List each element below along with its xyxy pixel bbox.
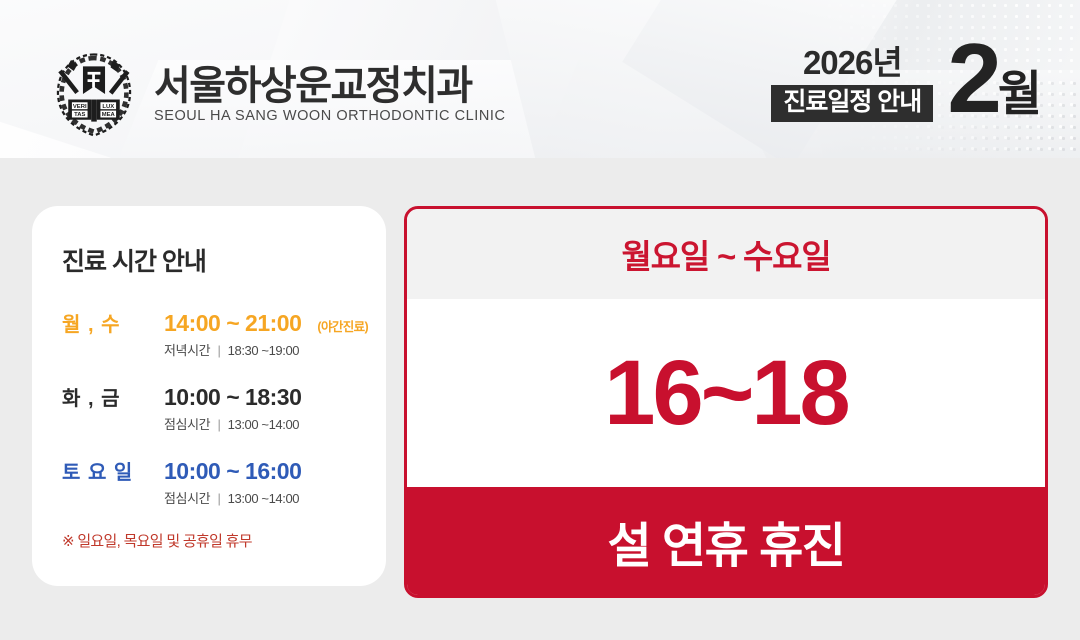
- brand-logo: VERI TAS LUX MEA 서울하상운교정치과 SEOUL HA SANG…: [48, 48, 505, 140]
- hours-row-break-separator: |: [217, 343, 220, 358]
- hours-row-main: 월 , 수 14:00 ~ 21:00 (야간진료): [62, 308, 386, 337]
- schedule-notice-badge: 진료일정 안내: [771, 85, 933, 122]
- holiday-notice-footer: 설 연휴 휴진: [407, 487, 1045, 595]
- clinic-name-kr: 서울하상운교정치과: [154, 65, 505, 107]
- hours-row-break-time: 13:00 ~14:00: [228, 491, 299, 506]
- hours-row-break: 점심시간 | 13:00 ~14:00: [164, 488, 386, 507]
- holiday-notice-body: 16~18: [407, 299, 1045, 487]
- hours-row-days: 토 요 일: [62, 456, 150, 485]
- hours-card-title: 진료 시간 안내: [62, 242, 386, 278]
- holiday-notice-day-range: 월요일 ~ 수요일: [622, 230, 831, 278]
- hours-row-break-label: 점심시간: [164, 491, 210, 506]
- hours-card: 진료 시간 안내 월 , 수 14:00 ~ 21:00 (야간진료) 저녁시간…: [32, 206, 386, 586]
- svg-text:LUX: LUX: [102, 104, 114, 110]
- hours-row-break-time: 13:00 ~14:00: [228, 417, 299, 432]
- header-month: 2 월: [947, 36, 1040, 120]
- hours-row-break-label: 점심시간: [164, 417, 210, 432]
- clinic-name-en: SEOUL HA SANG WOON ORTHODONTIC CLINIC: [154, 108, 505, 124]
- hours-row-break-separator: |: [217, 417, 220, 432]
- hours-row-time: 10:00 ~ 18:30: [164, 384, 301, 411]
- hours-row-main: 토 요 일 10:00 ~ 16:00: [62, 456, 386, 485]
- hours-row-saturday: 토 요 일 10:00 ~ 16:00 점심시간 | 13:00 ~14:00: [62, 456, 386, 507]
- hours-row-break-label: 저녁시간: [164, 343, 210, 358]
- hours-row-days: 화 , 금: [62, 382, 150, 411]
- header-month-unit: 월: [998, 74, 1040, 120]
- hours-row-main: 화 , 금 10:00 ~ 18:30: [62, 382, 386, 411]
- hours-row-days: 월 , 수: [62, 308, 150, 337]
- header-year: 2026년: [803, 46, 902, 79]
- hours-row-break: 저녁시간 | 18:30 ~19:00: [164, 340, 386, 359]
- snu-emblem-icon: VERI TAS LUX MEA: [48, 48, 140, 140]
- hours-row-tag: (야간진료): [317, 316, 368, 335]
- header-month-number: 2: [947, 36, 998, 120]
- svg-text:VERI: VERI: [73, 104, 87, 110]
- hours-row-tue-fri: 화 , 금 10:00 ~ 18:30 점심시간 | 13:00 ~14:00: [62, 382, 386, 433]
- hours-row-mon-wed: 월 , 수 14:00 ~ 21:00 (야간진료) 저녁시간 | 18:30 …: [62, 308, 386, 359]
- hours-row-time: 14:00 ~ 21:00: [164, 310, 301, 337]
- hours-row-break-time: 18:30 ~19:00: [228, 343, 299, 358]
- svg-text:MEA: MEA: [102, 112, 116, 118]
- svg-text:TAS: TAS: [74, 112, 85, 118]
- hours-row-time: 10:00 ~ 16:00: [164, 458, 301, 485]
- hours-row-break: 점심시간 | 13:00 ~14:00: [164, 414, 386, 433]
- closed-days-note: ※ 일요일, 목요일 및 공휴일 휴무: [62, 530, 386, 551]
- holiday-notice-card: 월요일 ~ 수요일 16~18 설 연휴 휴진: [404, 206, 1048, 598]
- holiday-notice-header: 월요일 ~ 수요일: [407, 209, 1045, 299]
- brand-text: 서울하상운교정치과 SEOUL HA SANG WOON ORTHODONTIC…: [154, 65, 505, 124]
- hours-row-break-separator: |: [217, 491, 220, 506]
- holiday-notice-date-range: 16~18: [604, 347, 847, 439]
- header-schedule-title: 2026년 진료일정 안내 2 월: [771, 36, 1040, 122]
- page-header: VERI TAS LUX MEA 서울하상운교정치과 SEOUL HA SANG…: [0, 0, 1080, 158]
- holiday-notice-label: 설 연휴 휴진: [608, 506, 845, 576]
- header-year-badge-stack: 2026년 진료일정 안내: [771, 36, 933, 122]
